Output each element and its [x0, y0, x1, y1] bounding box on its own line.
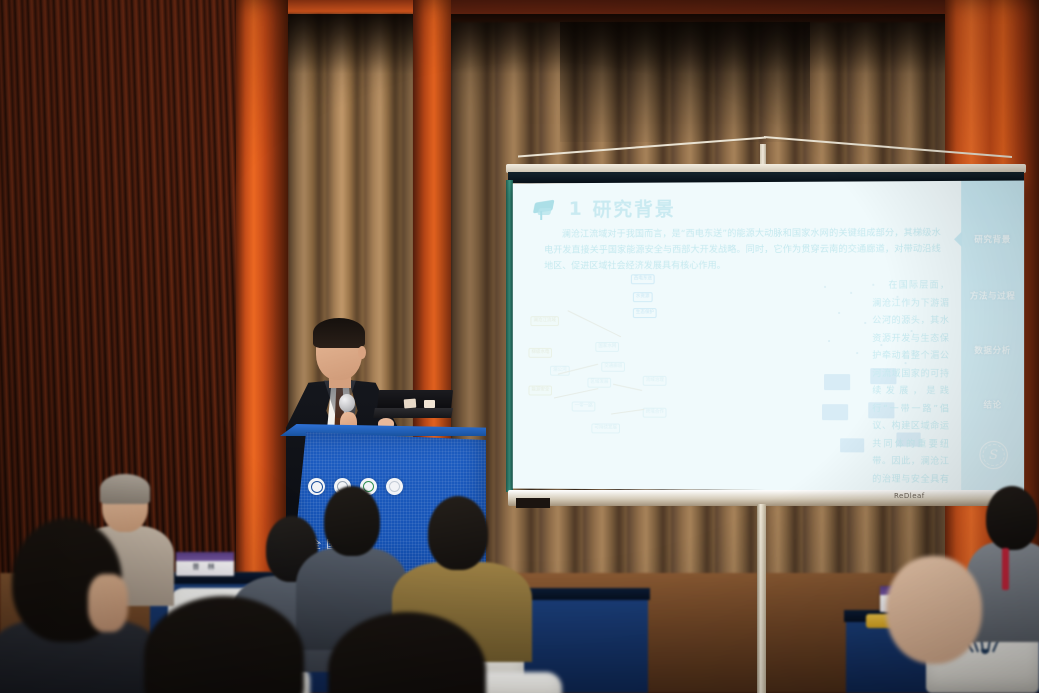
diagram-connector	[554, 388, 599, 398]
audience-member-foreground	[130, 596, 320, 693]
audience-head	[428, 496, 488, 570]
audience-head	[324, 486, 380, 556]
nav-item-methods-process[interactable]: 方法与过程	[961, 290, 1024, 302]
diagram-node: 区域发展	[587, 378, 611, 388]
diagram-node: 梯级水电	[528, 348, 552, 358]
presenter-ear	[358, 346, 366, 359]
audience-member	[886, 556, 1006, 693]
screen-bottom-bar	[508, 490, 1024, 506]
curtain-top-shadow	[288, 14, 978, 74]
presenter-hair	[313, 318, 365, 348]
graduation-cap-icon	[534, 199, 560, 219]
diagram-node: 交通廊道	[601, 362, 625, 372]
conference-presentation-photo: 1 研究背景 澜沧江流域对于我国而言，是“西电东送”的能源大动脉和国家水网的关键…	[0, 0, 1039, 693]
audience-head	[886, 556, 982, 664]
audience-head	[986, 486, 1038, 550]
nav-item-conclusion[interactable]: 结论	[961, 398, 1024, 410]
slide-title-group: 1 研究背景	[534, 194, 675, 222]
projected-slide-surface: 1 研究背景 澜沧江流域对于我国而言，是“西电东送”的能源大动脉和国家水网的关键…	[513, 181, 1024, 492]
slide: 1 研究背景 澜沧江流域对于我国而言，是“西电东送”的能源大动脉和国家水网的关键…	[513, 181, 1024, 492]
nav-item-research-background[interactable]: 研究背景	[961, 233, 1024, 245]
paper-note	[404, 399, 417, 409]
diagram-node: 流域治理	[643, 376, 667, 386]
laptop-keyboard[interactable]	[373, 408, 453, 418]
diagram-node: 一带一路	[572, 402, 596, 412]
diagram-node: 跨境合作	[643, 408, 667, 418]
diagram-node: 生态保护	[633, 308, 657, 318]
screen-brand-label: ReDleaf	[894, 492, 940, 501]
audience-member-foreground	[318, 612, 498, 693]
diagram-node: 西电东送	[631, 274, 655, 284]
diagram-node: 国家水网	[595, 342, 619, 352]
nameplate-left-text: 普 林	[192, 562, 217, 572]
diagram-connector	[611, 409, 644, 415]
slide-body-paragraph: 澜沧江流域对于我国而言，是“西电东送”的能源大动脉和国家水网的关键组成部分，其梯…	[544, 225, 941, 275]
diagram-node: 澜沧江流域	[530, 316, 558, 326]
microphone-head-icon	[339, 394, 355, 412]
diagram-node: 水资源	[633, 292, 653, 302]
audience-head	[328, 612, 486, 693]
slide-right-column-text: 在国际层面，澜沧江作为下游湄公河的源头，其水资源开发与生态保护牵动着整个湄公河流…	[872, 278, 949, 492]
diagram-connector	[613, 384, 642, 391]
diagram-node: 可持续发展	[591, 423, 620, 433]
audience-hair	[100, 474, 150, 504]
nameplate-left: 普 林	[176, 552, 234, 576]
circular-institution-logo: S	[979, 441, 1007, 469]
tripod-center-pole	[757, 504, 766, 693]
diagram-node: 能源安全	[528, 386, 552, 396]
slide-diagram: 澜沧江流域 梯级水电 能源安全 西电东送 水资源 生态保护 国家水网 交通廊道 …	[528, 274, 816, 474]
slide-title-number: 1	[569, 197, 584, 219]
slide-section-nav[interactable]: 研究背景 方法与过程 数据分析 结论 S	[961, 181, 1024, 492]
audience-face	[88, 574, 128, 632]
paper-note	[424, 400, 435, 408]
diagram-connector	[568, 310, 622, 337]
slide-title-text: 研究背景	[593, 194, 676, 221]
audience-head	[144, 596, 304, 693]
nav-item-data-analysis[interactable]: 数据分析	[961, 344, 1024, 356]
